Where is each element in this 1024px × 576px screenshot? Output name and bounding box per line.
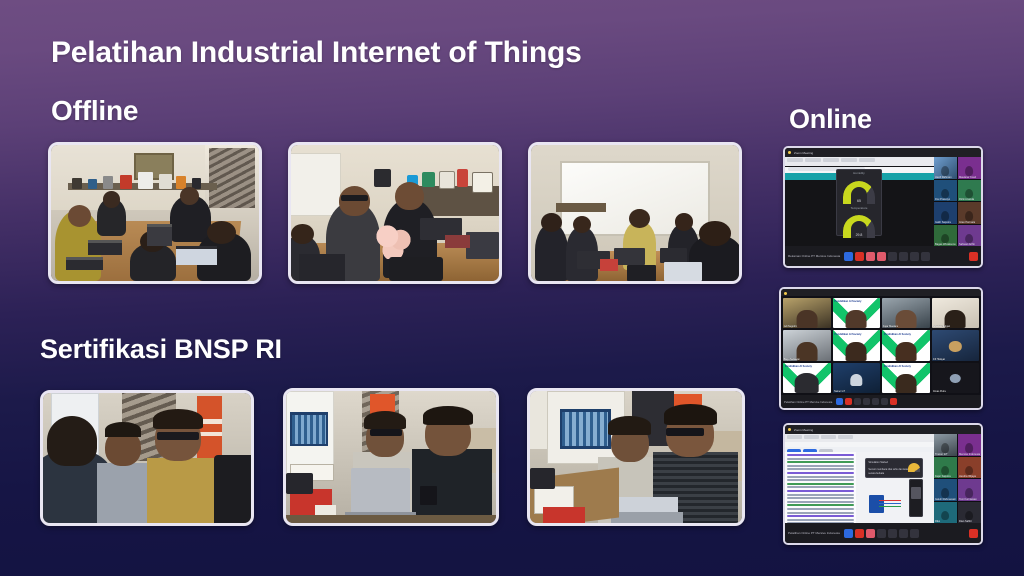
eyeglasses	[370, 429, 402, 436]
gauge-value-humidity: 65	[843, 199, 875, 203]
zoom-record-dot	[788, 428, 791, 431]
start-video-button[interactable]	[845, 398, 852, 405]
participant-tile[interactable]: Intan Permata	[958, 202, 981, 224]
participant-silhouette	[796, 310, 817, 329]
participant-tile[interactable]: Toni Kurniawan	[958, 479, 981, 501]
participant-silhouette	[794, 373, 819, 393]
participant-name: Galuh Rahmawati	[935, 498, 956, 501]
participants-button[interactable]	[854, 398, 861, 405]
iot-dashboard-card: Humidity 65 Temperature 29.8	[836, 169, 883, 235]
browser-tab[interactable]	[787, 158, 803, 162]
participant-silhouette	[966, 511, 974, 521]
participant-name: Rizki Ananda	[959, 198, 974, 201]
participant-name: Hendra Wijaya	[959, 475, 976, 478]
bnsp-photo-1	[40, 390, 254, 526]
wire-green	[879, 506, 901, 507]
participant-tile[interactable]: Adi Nugroho	[783, 298, 831, 328]
wire-blue	[879, 503, 901, 504]
zoom-toolbar: Pelatihan Online PT Mersive Indonesia	[781, 395, 981, 408]
chat-button[interactable]	[863, 398, 870, 405]
participant-name: Bayu Setiawan	[784, 358, 800, 361]
bnsp-photo-3	[527, 388, 745, 526]
end-meeting-button[interactable]	[890, 398, 897, 405]
participant-tile[interactable]: Dian Safitri	[958, 502, 981, 524]
zoom-gallery-grid: Adi Nugroho Pendidikan AI Society Fajar …	[781, 296, 981, 395]
humidity-gauge: 65	[843, 181, 875, 204]
shared-simulator-window: Simulation Started Sensor membaca nilai …	[785, 434, 934, 523]
participant-thumbnail-strip: Trainer IoT Mersive Indonesia Fajar Sapu…	[934, 434, 981, 523]
browser-tab[interactable]	[838, 435, 853, 439]
zoom-toolbar: Pelatihan Online PT Mersive Indonesia	[785, 523, 981, 543]
browser-tab[interactable]	[787, 435, 802, 439]
online-screenshot-1: Zoom Meeting Humidity 65 Temperature	[783, 146, 983, 268]
participant-name: Dimas Putra	[933, 390, 946, 393]
zoom-toolbar: Rekaman Online PT Mersive Indonesia	[785, 246, 981, 266]
record-button[interactable]	[899, 529, 908, 538]
virtual-background-label: Pendidikan AI Society	[884, 365, 911, 368]
participant-silhouette	[966, 166, 974, 176]
browser-tab[interactable]	[821, 435, 836, 439]
unmute-button[interactable]	[844, 529, 853, 538]
online-screenshot-3: Zoom Meeting	[783, 423, 983, 545]
zoom-window-title: Zoom Meeting	[794, 151, 813, 155]
participant-tile[interactable]: Arif Hidayat	[932, 330, 980, 360]
participant-name: Mersive Indonesia	[959, 453, 980, 456]
browser-tab[interactable]	[823, 158, 839, 162]
participant-name: Yohanes Tarigan	[933, 325, 951, 328]
participant-tile[interactable]: Dimas Putra	[932, 363, 980, 393]
zoom-window-title: Zoom Meeting	[794, 428, 813, 432]
participant-silhouette	[851, 374, 862, 386]
participant-name: Fajar Saputra	[935, 475, 951, 478]
unmute-button[interactable]	[844, 252, 853, 261]
participant-name: Intan Permata	[959, 221, 975, 224]
reactions-button[interactable]	[910, 529, 919, 538]
participant-tile[interactable]: Pendidikan AI Society	[833, 298, 881, 328]
virtual-background-label: Pendidikan AI Society	[834, 333, 861, 336]
participant-name: Trainer IoT	[935, 453, 948, 456]
end-meeting-button[interactable]	[969, 529, 978, 538]
temperature-gauge: 29.8	[843, 215, 875, 238]
participant-silhouette	[846, 310, 867, 329]
section-heading-sertifikasi: Sertifikasi BNSP RI	[40, 334, 282, 365]
participant-name: Dwi Prasetyo	[935, 198, 950, 201]
participant-silhouette	[895, 310, 916, 329]
participant-tile[interactable]: Maulana Yusuf	[958, 157, 981, 179]
share-screen-button[interactable]	[888, 529, 897, 538]
participant-tile[interactable]: Pendidikan AI Society	[783, 363, 831, 393]
shared-browser-window: Humidity 65 Temperature 29.8	[785, 157, 934, 246]
participant-silhouette	[942, 488, 950, 498]
browser-tab[interactable]	[859, 158, 875, 162]
participant-silhouette	[895, 374, 916, 393]
bnsp-photo-2	[283, 388, 499, 526]
participant-tile[interactable]: Yohanes Tarigan	[932, 298, 980, 328]
participant-tile[interactable]: Galuh Rahmawati	[934, 479, 957, 501]
participant-tile[interactable]: Pendidikan AI Society	[882, 363, 930, 393]
participant-silhouette	[966, 234, 974, 244]
zoom-status-text: Rekaman Online PT Mersive Indonesia	[788, 254, 840, 258]
end-meeting-button[interactable]	[969, 252, 978, 261]
esp32-board[interactable]	[909, 479, 923, 517]
participant-tile[interactable]: Rizki Ananda	[958, 180, 981, 202]
section-heading-online: Online	[789, 104, 872, 135]
page-title: Pelatihan Industrial Internet of Things	[51, 36, 582, 70]
participant-silhouette	[846, 342, 867, 361]
participant-silhouette	[942, 189, 950, 199]
zoom-status-text: Pelatihan Online PT Mersive Indonesia	[784, 400, 832, 404]
participant-tile[interactable]: Dwi Prasetyo	[934, 180, 957, 202]
participant-name: Adi Nugroho	[784, 325, 797, 328]
participant-tile[interactable]: Bagas Wicaksono	[934, 225, 957, 247]
toast-gauge	[908, 463, 920, 472]
apps-button[interactable]	[921, 252, 930, 261]
start-video-button[interactable]	[855, 252, 864, 261]
participant-tile[interactable]: Riko	[934, 502, 957, 524]
participant-tile[interactable]: Pendidikan AI Society	[833, 330, 881, 360]
participant-silhouette	[942, 234, 950, 244]
reactions-button[interactable]	[910, 252, 919, 261]
browser-tab-strip[interactable]	[785, 157, 934, 166]
simulator-canvas[interactable]: Simulation Started Sensor membaca nilai …	[856, 452, 934, 523]
virtual-background-label: Pendidikan AI Society	[834, 300, 861, 303]
participants-button[interactable]	[866, 529, 875, 538]
record-button[interactable]	[881, 398, 888, 405]
browser-tab[interactable]	[841, 158, 857, 162]
participant-tile[interactable]: Bayu Setiawan	[783, 330, 831, 360]
participant-silhouette	[966, 211, 974, 221]
participant-tile[interactable]: Trainer IoT	[934, 434, 957, 456]
browser-tab[interactable]	[804, 435, 819, 439]
virtual-background-label: Pendidikan AI Society	[785, 365, 812, 368]
participant-name: Arif Hidayat	[933, 358, 945, 361]
participant-name: Maulana Yusuf	[959, 176, 976, 179]
participant-name: Fajar Maulana	[883, 325, 898, 328]
participant-silhouette	[942, 166, 950, 176]
participant-silhouette	[895, 342, 916, 361]
participant-thumbnail-strip: Hanif Rahman Maulana Yusuf Dwi Prasetyo …	[934, 157, 981, 246]
participant-tile[interactable]: Pendidikan AI Society	[882, 330, 930, 360]
code-editor[interactable]	[785, 452, 856, 523]
browser-tab-strip[interactable]	[785, 434, 934, 442]
zoom-window-titlebar: Zoom Meeting	[785, 425, 983, 434]
participant-tile[interactable]: Hendra Wijaya	[958, 457, 981, 479]
virtual-background-label: Pendidikan AI Society	[884, 333, 911, 336]
participant-tile[interactable]: Galih Saputra	[934, 202, 957, 224]
online-screenshot-2: Adi Nugroho Pendidikan AI Society Fajar …	[779, 287, 983, 410]
participant-silhouette	[966, 189, 974, 199]
zoom-status-text: Pelatihan Online PT Mersive Indonesia	[788, 531, 840, 535]
wire-red	[879, 500, 901, 501]
participant-silhouette	[942, 211, 950, 221]
participant-tile[interactable]: Hanif Rahman	[934, 157, 957, 179]
participant-silhouette	[942, 443, 950, 453]
presentation-slide: Pelatihan Industrial Internet of Things …	[0, 0, 1024, 576]
offline-photo-3	[528, 142, 742, 284]
participant-silhouette	[966, 466, 974, 476]
participant-silhouette	[942, 466, 950, 476]
gauge-label-humidity: Humidity	[837, 171, 882, 175]
browser-tab[interactable]	[805, 158, 821, 162]
section-heading-offline: Offline	[51, 95, 138, 127]
participant-silhouette	[942, 511, 950, 521]
smartphone	[420, 486, 437, 504]
participant-tile[interactable]: Mersive Indonesia	[958, 434, 981, 456]
eyeglasses	[666, 428, 704, 436]
eyeglasses	[157, 432, 199, 440]
participant-name: Toni Kurniawan	[959, 498, 977, 501]
participant-name: Galih Saputra	[935, 221, 951, 224]
zoom-record-dot	[784, 292, 787, 295]
offline-photo-2	[288, 142, 502, 284]
chat-button[interactable]	[877, 252, 886, 261]
zoom-record-dot	[788, 151, 791, 154]
start-video-button[interactable]	[855, 529, 864, 538]
participants-button[interactable]	[866, 252, 875, 261]
chat-button[interactable]	[877, 529, 886, 538]
simulation-toast: Simulation Started Sensor membaca nilai …	[865, 458, 923, 478]
participant-tile[interactable]: Trainer IoT	[833, 363, 881, 393]
participant-silhouette	[966, 443, 974, 453]
share-screen-button[interactable]	[888, 252, 897, 261]
record-button[interactable]	[899, 252, 908, 261]
zoom-window-titlebar: Zoom Meeting	[785, 148, 983, 157]
simulator-body: Simulation Started Sensor membaca nilai …	[785, 452, 934, 523]
participant-name: Hanif Rahman	[935, 176, 952, 179]
participant-tile[interactable]: Fajar Maulana	[882, 298, 930, 328]
gauge-value-temperature: 29.8	[843, 233, 875, 237]
participant-name: Trainer IoT	[834, 390, 846, 393]
offline-photo-1	[48, 142, 262, 284]
esp32-chip	[911, 487, 921, 498]
macbook	[351, 468, 410, 518]
participant-silhouette	[966, 488, 974, 498]
gauge-label-temperature: Temperature	[837, 206, 882, 210]
participant-tile[interactable]: Sahwan Arifin	[958, 225, 981, 247]
participant-tile[interactable]: Fajar Saputra	[934, 457, 957, 479]
share-screen-button[interactable]	[872, 398, 879, 405]
unmute-button[interactable]	[836, 398, 843, 405]
